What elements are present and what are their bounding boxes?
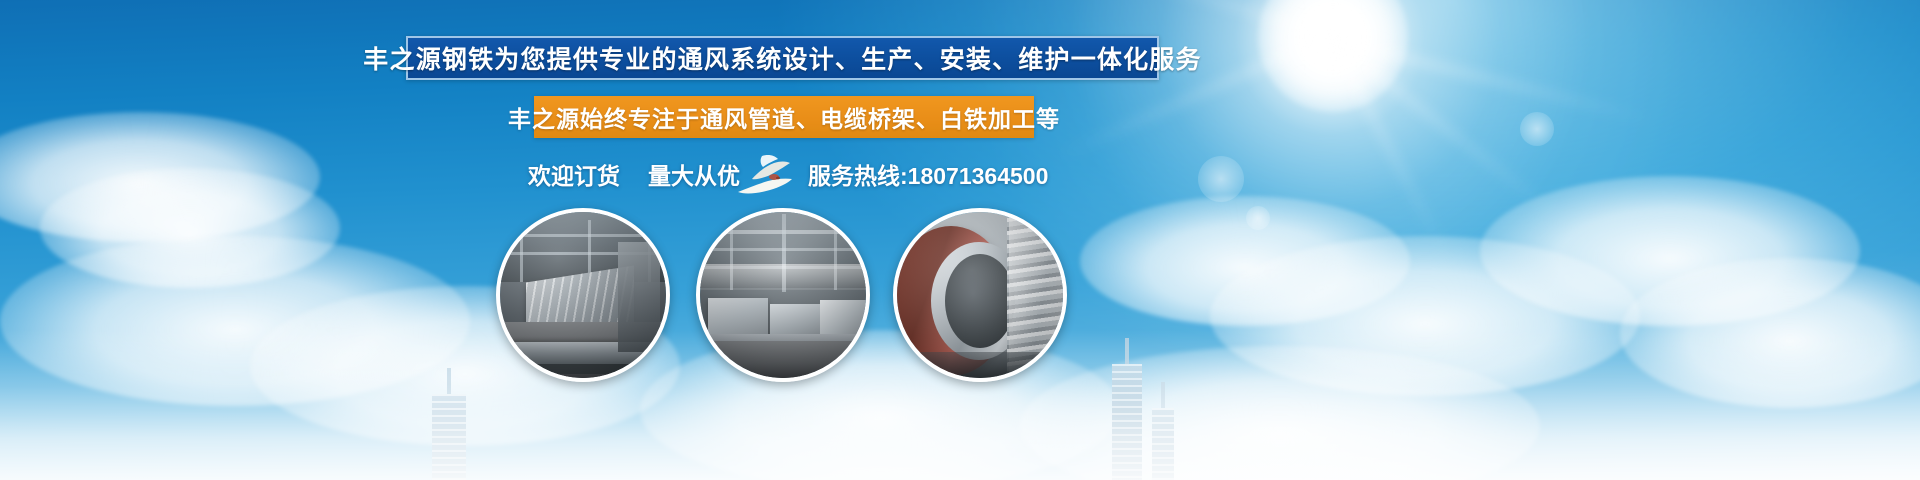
tagline-bulk-discount: 量大从优 (648, 157, 740, 191)
headline-text: 丰之源钢铁为您提供专业的通风系统设计、生产、安装、维护一体化服务 (363, 40, 1201, 76)
photo-spiral-duct (893, 208, 1067, 382)
tagline-welcome-order: 欢迎订货 (528, 157, 620, 191)
promo-banner: 丰之源钢铁为您提供专业的通风系统设计、生产、安装、维护一体化服务 丰之源始终专注… (0, 0, 1920, 480)
subheadline-ribbon: 丰之源始终专注于通风管道、电缆桥架、白铁加工等 (534, 96, 1034, 138)
lens-flare-dot (1520, 112, 1554, 146)
photo-workshop (696, 208, 870, 382)
subheadline-text: 丰之源始终专注于通风管道、电缆桥架、白铁加工等 (508, 100, 1060, 134)
headline-ribbon: 丰之源钢铁为您提供专业的通风系统设计、生产、安装、维护一体化服务 (406, 36, 1159, 80)
photo-ventilation-ducts (496, 208, 670, 382)
tagline-hotline: 服务热线:18071364500 (808, 157, 1048, 191)
dove-icon (732, 152, 798, 198)
